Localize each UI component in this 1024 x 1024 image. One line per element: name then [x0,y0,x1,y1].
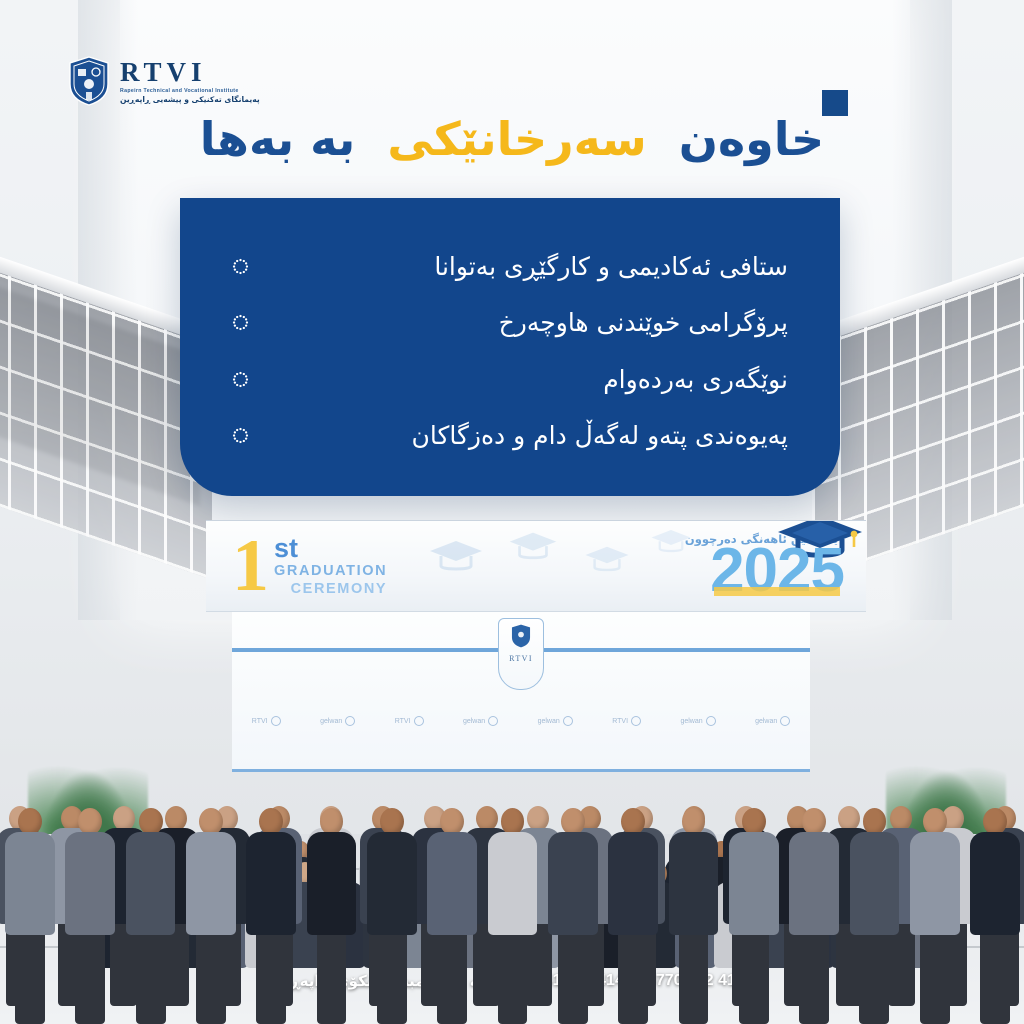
person-legs [75,935,105,1024]
brand-logo: RTVI Rapeirn Technical and Vocational In… [68,56,260,106]
list-item: پەیوەندی پتەو لەگەڵ دام و دەزگاکان [232,421,788,450]
ceremony-ordinal: st [274,535,387,562]
person-head [742,808,766,835]
person-torso [427,832,477,936]
person-torso [548,832,598,936]
graduation-cap-icon [583,543,631,577]
year-underline [714,587,840,596]
headline-segment-1: خاوەن [679,112,824,166]
list-item-label: پرۆگرامی خوێندنی هاوچەرخ [263,308,788,337]
ceremony-numeral: 1 [232,535,267,598]
person-figure [850,808,900,1024]
list-item: پرۆگرامی خوێندنی هاوچەرخ [232,308,788,337]
person-legs [437,935,467,1024]
person-figure [307,808,357,1024]
person-head [18,808,42,835]
person-figure [488,808,538,1024]
person-figure [186,808,236,1024]
person-figure [669,808,719,1024]
person-legs [799,935,829,1024]
list-item: ستافی ئەکادیمی و کارگێڕی بەتوانا [232,252,788,281]
headline-segment-2: سەرخانێکی [387,112,646,166]
person-head [863,808,887,835]
ceremony-title-group: 1 st GRADUATION CEREMONY [206,535,387,598]
headline-segment-3: بە بەها [200,112,356,166]
ceremony-line-1: GRADUATION [274,564,387,579]
shield-crest-icon [511,624,531,648]
shield-crest-icon [68,56,110,106]
decorative-caps-group [387,521,685,611]
person-head [78,808,102,835]
person-head [682,808,706,835]
person-legs [739,935,769,1024]
person-torso [367,832,417,936]
person-legs [920,935,950,1024]
list-item-label: پەیوەندی پتەو لەگەڵ دام و دەزگاکان [263,421,788,450]
list-item-label: ستافی ئەکادیمی و کارگێڕی بەتوانا [263,252,788,281]
person-figure [126,808,176,1024]
person-figure [5,808,55,1024]
person-torso [246,832,296,936]
person-legs [498,935,528,1024]
person-figure [65,808,115,1024]
person-head [802,808,826,835]
person-torso [850,832,900,936]
person-figure [729,808,779,1024]
person-legs [618,935,648,1024]
list-item-label: نوێگەری بەردەوام [263,365,788,394]
person-figure [608,808,658,1024]
person-figure [970,808,1020,1024]
dotted-circle-icon [232,427,249,444]
person-torso [186,832,236,936]
person-legs [136,935,166,1024]
ceremony-year-group: یەکەمین ئاهەنگی دەرچوون 2025 [685,532,866,599]
dotted-circle-icon [232,258,249,275]
person-legs [256,935,286,1024]
person-head [320,808,344,835]
person-figure [789,808,839,1024]
backdrop-shield-logo: RTVI [498,618,544,690]
person-head [259,808,283,835]
graduation-cap-icon [507,529,559,565]
backdrop-shield-label: RTVI [509,654,533,663]
person-head [983,808,1007,835]
person-legs [679,935,709,1024]
person-torso [307,832,357,936]
person-torso [5,832,55,936]
person-head [501,808,525,835]
person-torso [488,832,538,936]
person-head [139,808,163,835]
ceremony-line-2: CEREMONY [291,582,388,597]
person-legs [15,935,45,1024]
person-legs [196,935,226,1024]
person-torso [970,832,1020,936]
logo-subtitle-en: Rapeirn Technical and Vocational Institu… [120,89,260,94]
dotted-circle-icon [232,371,249,388]
person-legs [980,935,1010,1024]
person-head [380,808,404,835]
person-head [440,808,464,835]
person-figure [246,808,296,1024]
person-torso [126,832,176,936]
graduation-cap-icon [427,537,485,577]
person-figure [427,808,477,1024]
list-item: نوێگەری بەردەوام [232,365,788,394]
poster-canvas: RTVI Rapeirn Technical and Vocational In… [0,0,1024,1024]
person-torso [910,832,960,936]
person-torso [729,832,779,936]
person-head [621,808,645,835]
features-panel: ستافی ئەکادیمی و کارگێڕی بەتوانا پرۆگرام… [180,198,840,496]
dotted-circle-icon [232,314,249,331]
group-photo: RTVI gelwan gelwan RTVI gelwan gelwan RT… [0,612,1024,1024]
person-head [923,808,947,835]
person-torso [608,832,658,936]
person-torso [789,832,839,936]
person-legs [317,935,347,1024]
graduates-crowd [0,694,1024,1024]
person-head [561,808,585,835]
person-legs [377,935,407,1024]
person-torso [65,832,115,936]
person-torso [669,832,719,936]
person-head [199,808,223,835]
person-legs [859,935,889,1024]
ceremony-banner: 1 st GRADUATION CEREMONY [206,520,866,612]
logo-subtitle-ku: پەیمانگای تەکنیکی و پیشەیی ڕاپەڕین [120,96,260,104]
logo-wordmark: RTVI [120,59,260,86]
person-figure [910,808,960,1024]
person-legs [558,935,588,1024]
page-title: خاوەن سەرخانێکی بە بەها [0,105,1024,174]
person-figure [367,808,417,1024]
person-figure [548,808,598,1024]
